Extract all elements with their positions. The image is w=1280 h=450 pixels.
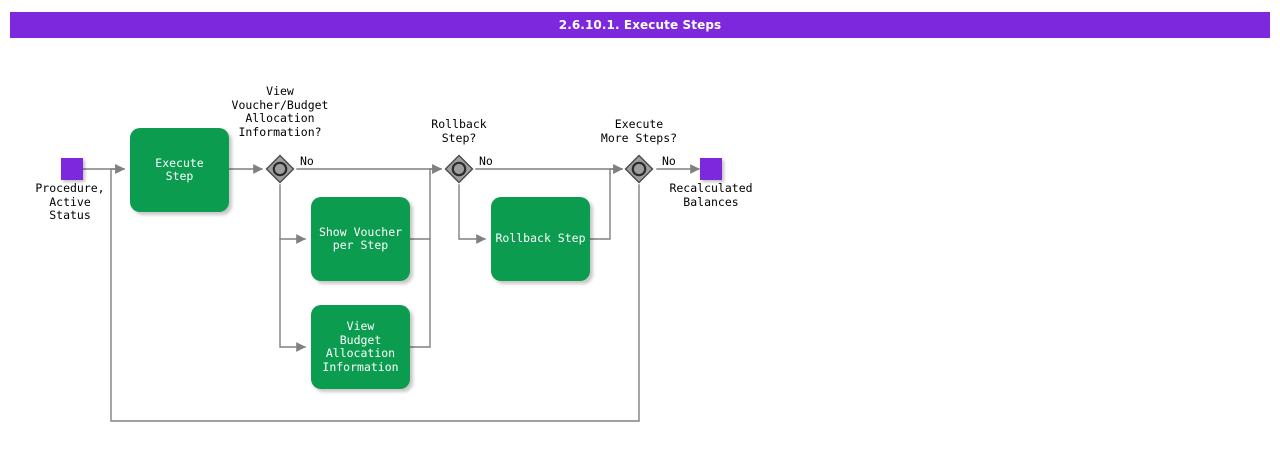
task-execute-step-label: Execute Step <box>151 157 207 184</box>
edge-label-view-info-no: No <box>300 155 314 168</box>
task-show-voucher-per-step-label: Show Voucher per Step <box>315 226 406 253</box>
end-event[interactable] <box>700 158 722 180</box>
edge-rollback-step-merge <box>590 174 610 239</box>
start-event-label: Procedure, Active Status <box>10 182 130 223</box>
gateway-diamond-icon <box>265 154 295 184</box>
task-view-budget-allocation-information[interactable]: View Budget Allocation Information <box>311 305 410 389</box>
gateway-more-steps[interactable] <box>624 154 654 184</box>
gateway-rollback-label: Rollback Step? <box>399 118 519 145</box>
edge-gw-view-to-view-budget <box>280 239 305 347</box>
diagram-title-bar: 2.6.10.1. Execute Steps <box>10 12 1270 38</box>
edge-rollback-merge-to-gw-more <box>610 169 622 174</box>
task-show-voucher-per-step[interactable]: Show Voucher per Step <box>311 197 410 281</box>
edge-view-budget-merge <box>410 239 430 347</box>
gateway-rollback[interactable] <box>444 154 474 184</box>
gateway-more-steps-label: Execute More Steps? <box>579 118 699 145</box>
task-rollback-step[interactable]: Rollback Step <box>491 197 590 281</box>
edge-gw-view-to-show-voucher <box>280 185 305 239</box>
gateway-diamond-icon <box>624 154 654 184</box>
flowchart-page: 2.6.10.1. Execute Steps <box>0 0 1280 450</box>
task-rollback-step-label: Rollback Step <box>491 232 589 246</box>
edge-merge-to-gw-rollback <box>430 169 441 174</box>
page-title: 2.6.10.1. Execute Steps <box>559 18 722 32</box>
edge-gw-rollback-to-rollback-step <box>459 185 485 239</box>
end-event-label: Recalculated Balances <box>651 182 771 209</box>
task-execute-step[interactable]: Execute Step <box>130 128 229 212</box>
gateway-view-info-label: View Voucher/Budget Allocation Informati… <box>200 85 360 139</box>
gateway-diamond-icon <box>444 154 474 184</box>
gateway-view-info[interactable] <box>265 154 295 184</box>
edge-label-rollback-no: No <box>479 155 493 168</box>
edge-show-voucher-merge <box>410 174 430 239</box>
task-view-budget-allocation-information-label: View Budget Allocation Information <box>318 320 402 374</box>
edge-label-more-steps-no: No <box>662 155 676 168</box>
connector-layer <box>0 0 1280 450</box>
start-event[interactable] <box>61 158 83 180</box>
